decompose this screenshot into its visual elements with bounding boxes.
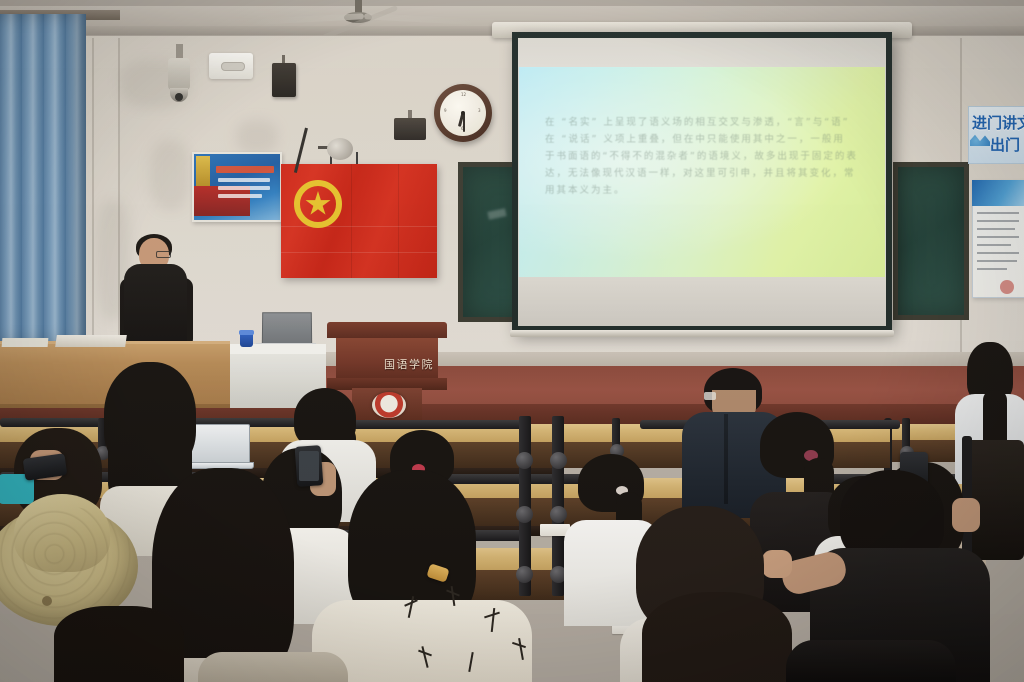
hand	[762, 550, 792, 578]
flag-fold	[281, 252, 437, 253]
window-curtain[interactable]	[0, 14, 86, 344]
slide-line: 达，无法像现代汉语一样，对这里可引申，并且将其变化，常	[545, 165, 865, 182]
clock-center-pin	[461, 111, 465, 115]
clock-numeral-9: 9	[444, 108, 447, 113]
wall-stain	[236, 120, 278, 154]
poster-column-graphic	[196, 156, 210, 186]
rail-knob	[516, 506, 533, 523]
ceiling-edge	[0, 0, 1024, 6]
notice-line	[977, 268, 1007, 270]
clock-numeral-3: 3	[478, 108, 481, 113]
blackboard-right	[893, 162, 969, 320]
slogan-line-1: 进门讲文明	[972, 112, 1024, 133]
classroom-photo: 12 3 6 9 进门讲文明 出门 在 “名实” 上	[0, 0, 1024, 682]
phone-screen	[299, 451, 319, 481]
flag-fold	[351, 164, 352, 278]
bottle-cap	[239, 330, 254, 335]
student-shoulder-bottom-right	[786, 640, 956, 682]
poster-tiananmen-graphic	[194, 186, 250, 216]
lectern-top[interactable]	[327, 322, 447, 338]
slogan-line-2: 出门	[990, 134, 1020, 155]
rail-knob	[550, 452, 567, 469]
desk-papers[interactable]	[2, 338, 49, 347]
glasses-icon	[156, 251, 171, 258]
desk-papers[interactable]	[55, 335, 127, 347]
desk-rail	[352, 420, 522, 429]
poster-text-line	[218, 178, 270, 182]
poster-text-line	[218, 186, 270, 190]
notice-line	[977, 260, 1017, 262]
screen-bottom-margin	[518, 277, 886, 326]
blouse-pattern	[400, 580, 560, 682]
official-seal-icon	[1000, 280, 1014, 294]
security-camera-icon	[168, 58, 190, 90]
wall-stain	[150, 140, 190, 210]
slide-line: 于书面语的“不得不的混杂者”的语境义，故多出现于固定的表	[545, 148, 865, 165]
desk-rail	[430, 474, 590, 484]
screen-top-margin	[518, 38, 886, 67]
hand	[952, 498, 980, 532]
wall-lamp-icon[interactable]	[327, 138, 353, 160]
poster-text-line	[218, 194, 262, 198]
wall-seam	[92, 38, 94, 358]
camera-lens-icon	[175, 93, 183, 101]
university-crest-icon	[372, 392, 406, 418]
laptop-screen[interactable]	[262, 312, 312, 346]
student-shoulder-bottom-left	[198, 652, 348, 682]
slide-line: 在 “名实” 上呈现了语义场的相互交叉与渗透，“言”与“语”	[545, 114, 865, 131]
ac-display-icon	[221, 62, 245, 71]
hat-button	[42, 596, 52, 606]
screen-weight-bar[interactable]	[510, 330, 894, 337]
rail-knob	[516, 452, 533, 469]
notice-line	[977, 228, 1015, 230]
notice-line	[977, 244, 1011, 246]
blue-bottle[interactable]	[240, 333, 253, 347]
notice-line	[977, 236, 1019, 238]
student-with-bucket-hat-hair	[54, 606, 184, 682]
wall-speaker-icon	[272, 63, 296, 97]
notice-poster-header	[972, 180, 1024, 206]
projector-box-icon	[394, 118, 426, 140]
clock-minute-hand	[463, 113, 465, 132]
rail-knob	[550, 506, 567, 523]
flag-fold	[398, 164, 399, 278]
poster-title-band	[216, 166, 274, 173]
slide-line: 在 “说话” 义项上重叠，但在中只能使用其中之一，一般用	[545, 131, 865, 148]
clock-numeral-12: 12	[461, 92, 466, 97]
presenter-body	[124, 264, 187, 350]
notice-line	[977, 220, 1019, 222]
slide-line: 用其本义为主。	[545, 182, 865, 199]
slide-text-block: 在 “名实” 上呈现了语义场的相互交叉与渗透，“言”与“语” 在 “说话” 义项…	[545, 114, 865, 199]
lectern-label: 国语学院	[336, 356, 438, 372]
ceiling-fan-icon	[300, 0, 470, 30]
flag-fold	[281, 226, 437, 227]
notice-line	[977, 252, 1019, 254]
notice-line	[977, 212, 1019, 214]
